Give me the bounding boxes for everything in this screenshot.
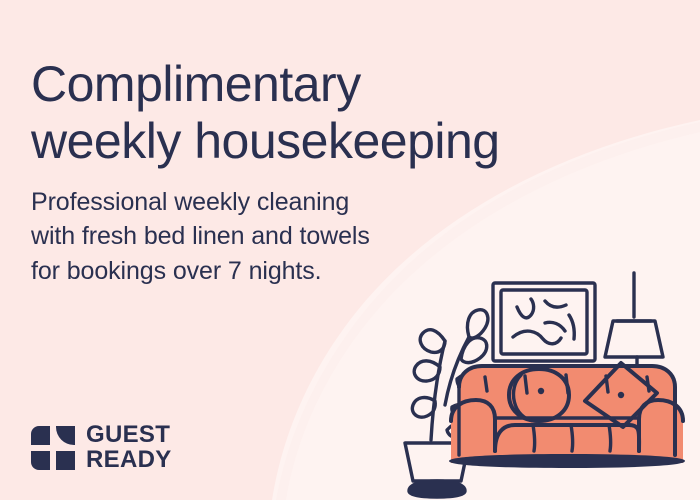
page-title: Complimentary weekly housekeeping xyxy=(31,56,631,171)
promo-card: Complimentary weekly housekeeping Profes… xyxy=(0,0,700,500)
guestready-logo: GUEST READY xyxy=(31,423,172,473)
framed-artwork-icon xyxy=(493,283,595,361)
guestready-wordmark: GUEST READY xyxy=(86,423,172,473)
guestready-quadrant-mark-icon xyxy=(31,426,75,470)
living-room-illustration xyxy=(385,255,700,500)
coral-sofa-icon xyxy=(449,363,685,468)
